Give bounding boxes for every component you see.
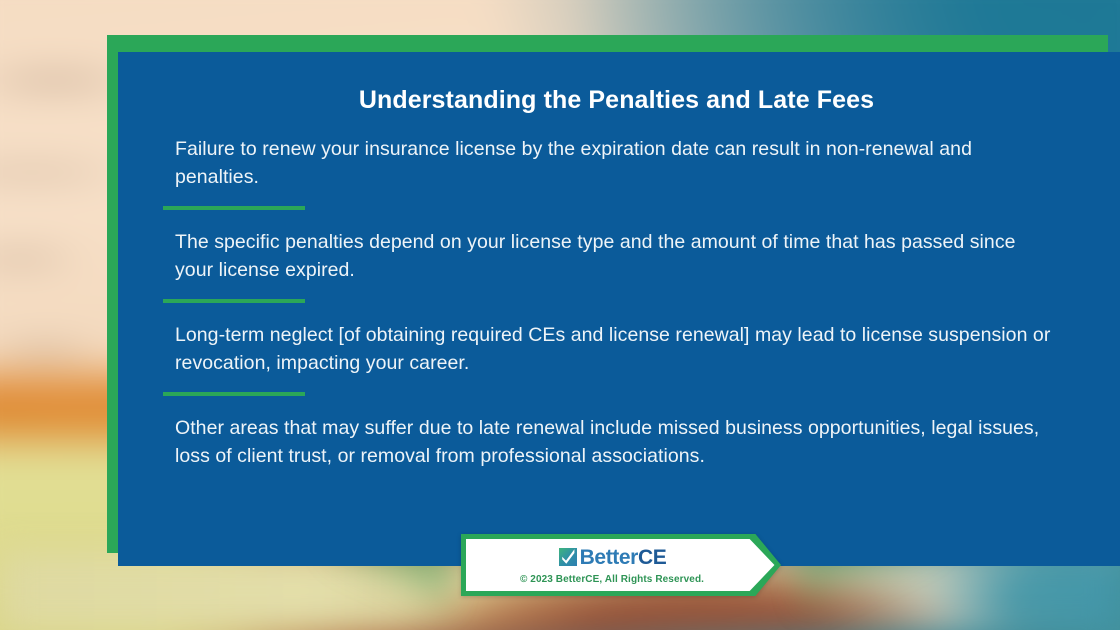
content-block: Failure to renew your insurance license … bbox=[175, 135, 1058, 210]
block-divider bbox=[163, 392, 305, 396]
block-divider bbox=[163, 299, 305, 303]
brand-name: BetterCE bbox=[580, 547, 667, 568]
content-block: The specific penalties depend on your li… bbox=[175, 228, 1058, 303]
content-card: Understanding the Penalties and Late Fee… bbox=[118, 52, 1120, 566]
block-divider bbox=[163, 206, 305, 210]
content-block-text: Failure to renew your insurance license … bbox=[175, 135, 1058, 191]
brand-name-part-2: CE bbox=[638, 546, 666, 569]
content-block: Other areas that may suffer due to late … bbox=[175, 414, 1058, 470]
checkmark-square-icon bbox=[558, 547, 578, 567]
copyright-text: © 2023 BetterCE, All Rights Reserved. bbox=[520, 574, 704, 585]
badge-inner: BetterCE © 2023 BetterCE, All Rights Res… bbox=[466, 539, 776, 591]
page-title: Understanding the Penalties and Late Fee… bbox=[175, 86, 1058, 115]
content-block-text: Other areas that may suffer due to late … bbox=[175, 414, 1058, 470]
card-content: Understanding the Penalties and Late Fee… bbox=[118, 52, 1120, 566]
content-block: Long-term neglect [of obtaining required… bbox=[175, 321, 1058, 396]
content-block-text: The specific penalties depend on your li… bbox=[175, 228, 1058, 284]
footer-brand-badge: BetterCE © 2023 BetterCE, All Rights Res… bbox=[461, 534, 781, 596]
brand-name-part-1: Better bbox=[580, 546, 638, 569]
brand-logo: BetterCE bbox=[558, 545, 667, 569]
content-block-text: Long-term neglect [of obtaining required… bbox=[175, 321, 1058, 377]
